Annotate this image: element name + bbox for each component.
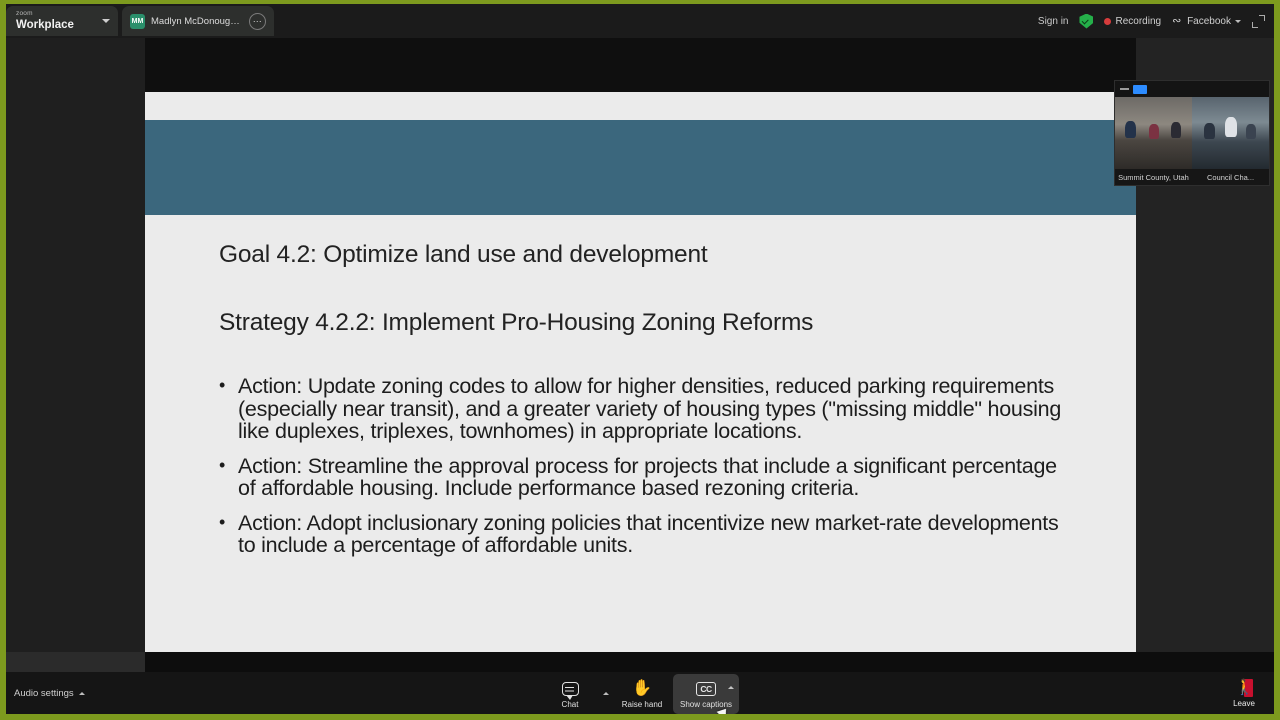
shield-check-icon[interactable] (1079, 14, 1093, 29)
slide-bullet-list: Action: Update zoning codes to allow for… (219, 375, 1062, 557)
audio-settings-button[interactable]: Audio settings (6, 688, 85, 699)
recording-indicator[interactable]: Recording (1104, 16, 1161, 27)
audio-settings-label: Audio settings (14, 688, 74, 699)
participant-thumbnail-panel[interactable]: Summit County, Utah Council Cha... (1114, 80, 1270, 186)
leave-meeting-icon: 🚶 (1233, 679, 1255, 697)
tab-shared-screen-label: Madlyn McDonough's screen (151, 16, 243, 27)
chevron-down-icon[interactable] (1235, 20, 1241, 23)
slide-accent-band (145, 120, 1136, 215)
recording-label: Recording (1115, 16, 1161, 27)
closed-caption-icon: CC (696, 680, 716, 698)
chat-button[interactable]: Chat (541, 674, 599, 714)
chat-icon (562, 680, 579, 698)
slide-heading: Goal 4.2: Optimize land use and developm… (219, 241, 1062, 269)
participant-name: Council Cha... (1192, 169, 1269, 185)
tab-shared-screen[interactable]: MM Madlyn McDonough's screen ⋯ (122, 6, 274, 36)
captions-chevron-up-icon[interactable] (728, 686, 734, 689)
zoom-brand-small: zoom (16, 11, 74, 18)
show-captions-button[interactable]: CC Show captions (673, 674, 739, 714)
top-bar-right-controls: Sign in Recording ∾ Facebook (1038, 4, 1274, 38)
leave-meeting-button[interactable]: 🚶 Leave (1220, 673, 1268, 713)
raise-hand-label: Raise hand (622, 700, 662, 709)
participant-panel-header[interactable] (1115, 81, 1269, 97)
raise-hand-button[interactable]: ✋ Raise hand (613, 674, 671, 714)
tab-zoom-workplace[interactable]: zoom Workplace (6, 6, 118, 36)
zoom-brand-large: Workplace (16, 20, 74, 32)
raise-hand-icon: ✋ (632, 680, 652, 698)
slide-subheading: Strategy 4.2.2: Implement Pro-Housing Zo… (219, 309, 1062, 337)
meeting-stage: Goal 4.2: Optimize land use and developm… (6, 38, 1274, 672)
shared-presentation: Goal 4.2: Optimize land use and developm… (145, 38, 1136, 652)
zoom-meeting-window: zoom Workplace MM Madlyn McDonough's scr… (0, 0, 1280, 720)
chat-label: Chat (562, 700, 579, 709)
presentation-top-band (145, 38, 1136, 92)
meeting-toolbar: Audio settings Chat ✋ Raise hand CC Show… (6, 672, 1274, 714)
zoom-window-inner: zoom Workplace MM Madlyn McDonough's scr… (6, 4, 1274, 714)
participant-video-grid (1115, 97, 1269, 169)
chat-chevron-up-icon[interactable] (603, 692, 609, 695)
facebook-label: Facebook (1187, 16, 1231, 27)
recording-dot-icon (1104, 18, 1111, 25)
zoom-workplace-brand: zoom Workplace (16, 11, 74, 31)
chevron-down-icon[interactable] (102, 19, 110, 23)
stage-left-panel (6, 38, 145, 672)
list-item: Action: Adopt inclusionary zoning polici… (219, 512, 1062, 557)
participant-name-labels: Summit County, Utah Council Cha... (1115, 169, 1269, 185)
active-view-icon[interactable] (1133, 85, 1147, 94)
avatar: MM (130, 14, 145, 29)
expand-icon[interactable] (1252, 15, 1265, 28)
list-item: Action: Update zoning codes to allow for… (219, 375, 1062, 443)
minimize-icon[interactable] (1120, 88, 1129, 90)
more-options-icon[interactable]: ⋯ (249, 13, 266, 30)
show-captions-label: Show captions (680, 700, 732, 709)
facebook-livestream-button[interactable]: ∾ Facebook (1172, 16, 1241, 27)
participant-name: Summit County, Utah (1115, 169, 1192, 185)
participant-video-tile[interactable] (1115, 97, 1192, 169)
slide-body: Goal 4.2: Optimize land use and developm… (145, 215, 1136, 557)
top-bar: zoom Workplace MM Madlyn McDonough's scr… (6, 4, 1274, 38)
toolbar-center-controls: Chat ✋ Raise hand CC Show captions (541, 672, 739, 714)
list-item: Action: Streamline the approval process … (219, 455, 1062, 500)
slide: Goal 4.2: Optimize land use and developm… (145, 92, 1136, 652)
participant-video-tile[interactable] (1192, 97, 1269, 169)
leave-label: Leave (1233, 699, 1255, 708)
slide-top-white-band (145, 92, 1136, 120)
sign-in-button[interactable]: Sign in (1038, 16, 1069, 27)
broadcast-icon: ∾ (1172, 16, 1183, 27)
chevron-up-icon[interactable] (79, 692, 85, 695)
